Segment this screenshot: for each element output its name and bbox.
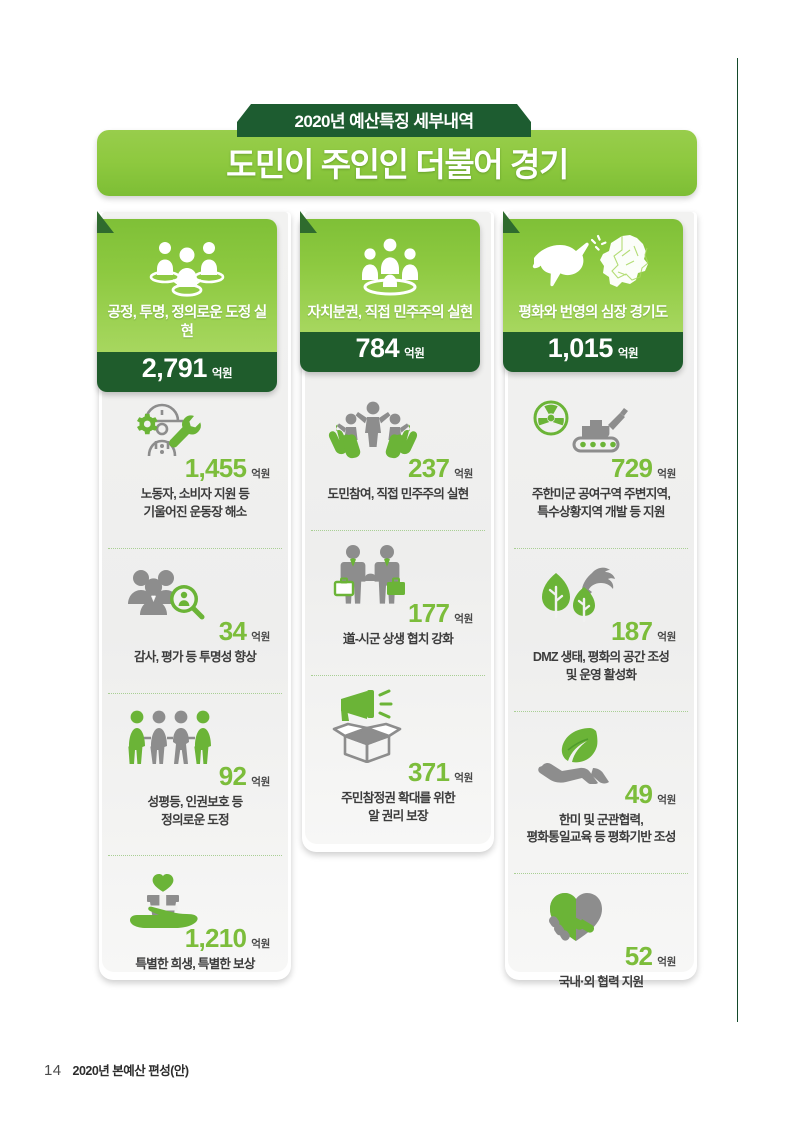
trees-bird-icon bbox=[518, 561, 684, 623]
column-total-value: 784 bbox=[356, 335, 400, 362]
column-total-unit: 억원 bbox=[212, 369, 232, 381]
page-footer: 14 2020년 본예산 편성(안) bbox=[44, 1060, 189, 1079]
megaphone-open-box-icon bbox=[315, 688, 481, 764]
item-description: 노동자, 소비자 지원 등 기울어진 운동장 해소 bbox=[112, 486, 278, 522]
page-number: 14 bbox=[44, 1062, 62, 1079]
column-total: 784 억원 bbox=[300, 332, 480, 372]
column-heading: 공정, 투명, 정의로운 도정 실현 bbox=[103, 304, 271, 343]
column-header-card: 공정, 투명, 정의로운 도정 실현 2,791 억원 bbox=[97, 219, 277, 392]
list-item: 177 억원 道-시군 상생 협치 강화 bbox=[305, 543, 491, 661]
people-magnifier-icon bbox=[112, 561, 278, 623]
list-item: 34 억원 감사, 평가 등 투명성 향상 bbox=[102, 561, 288, 679]
item-amount: 92 억원 bbox=[112, 763, 278, 789]
four-people-holding-hands-icon bbox=[112, 706, 278, 768]
item-amount-unit: 억원 bbox=[657, 469, 676, 480]
header-tab: 2020년 예산특징 세부내역 bbox=[237, 104, 531, 137]
item-description: 주한미군 공여구역 주변지역, 특수상황지역 개발 등 지원 bbox=[518, 486, 684, 522]
item-amount-unit: 억원 bbox=[657, 795, 676, 806]
column-header-top: 평화와 번영의 심장 경기도 bbox=[503, 219, 683, 332]
column-total-value: 2,791 bbox=[142, 355, 207, 382]
item-divider bbox=[514, 873, 688, 874]
list-item: 187 억원 DMZ 생태, 평화의 공간 조성 및 운영 활성화 bbox=[508, 561, 694, 697]
column-heading: 자치분권, 직접 민주주의 실현 bbox=[306, 304, 474, 323]
item-divider bbox=[311, 675, 485, 676]
community-circle-people-icon bbox=[306, 233, 474, 299]
item-divider bbox=[108, 548, 282, 549]
item-amount-unit: 억원 bbox=[454, 469, 473, 480]
item-amount-unit: 억원 bbox=[251, 939, 270, 950]
item-amount: 49 억원 bbox=[518, 781, 684, 807]
item-amount: 729 억원 bbox=[518, 455, 684, 481]
item-amount-unit: 억원 bbox=[657, 957, 676, 968]
infographic-header: 2020년 예산특징 세부내역 도민이 주인인 더불어 경기 bbox=[97, 104, 697, 196]
column-total-unit: 억원 bbox=[404, 349, 424, 361]
item-description: 특별한 희생, 특별한 보상 bbox=[112, 956, 278, 974]
item-amount: 34 억원 bbox=[112, 618, 278, 644]
item-amount-unit: 억원 bbox=[454, 614, 473, 625]
hand-holding-gift-heart-icon bbox=[112, 868, 278, 930]
item-divider bbox=[108, 693, 282, 694]
list-item: 49 억원 한미 및 군관협력, 평화통일교육 등 평화기반 조성 bbox=[508, 724, 694, 860]
item-amount-value: 34 bbox=[219, 618, 247, 644]
item-amount-unit: 억원 bbox=[251, 469, 270, 480]
header-banner: 도민이 주인인 더불어 경기 bbox=[97, 130, 697, 196]
item-amount-unit: 억원 bbox=[454, 773, 473, 784]
list-item: 729 억원 주한미군 공여구역 주변지역, 특수상황지역 개발 등 지원 bbox=[508, 398, 694, 534]
list-item: 1,210 억원 특별한 희생, 특별한 보상 bbox=[102, 868, 288, 986]
item-amount-unit: 억원 bbox=[657, 632, 676, 643]
column-header-card: 평화와 번영의 심장 경기도 1,015 억원 bbox=[503, 219, 683, 372]
item-amount-unit: 억원 bbox=[251, 777, 270, 788]
page-title: 도민이 주인인 더불어 경기 bbox=[226, 138, 568, 188]
column-total: 1,015 억원 bbox=[503, 332, 683, 372]
three-people-podium-icon bbox=[103, 233, 271, 299]
item-amount-value: 237 bbox=[408, 455, 449, 481]
radiation-excavator-icon bbox=[518, 398, 684, 460]
item-amount-value: 187 bbox=[611, 618, 652, 644]
item-amount-value: 729 bbox=[611, 455, 652, 481]
column-heading: 평화와 번영의 심장 경기도 bbox=[509, 304, 677, 323]
column-items: 1,455 억원 노동자, 소비자 지원 등 기울어진 운동장 해소 bbox=[102, 398, 288, 986]
item-description: 도민참여, 직접 민주주의 실현 bbox=[315, 486, 481, 504]
item-description: 국내·외 협력 지원 bbox=[518, 974, 684, 992]
item-description: DMZ 생태, 평화의 공간 조성 및 운영 활성화 bbox=[518, 649, 684, 685]
item-description: 감사, 평가 등 투명성 향상 bbox=[112, 649, 278, 667]
page-side-rule bbox=[737, 58, 738, 1022]
item-divider bbox=[514, 711, 688, 712]
item-amount-unit: 억원 bbox=[251, 632, 270, 643]
item-divider bbox=[311, 530, 485, 531]
column-header-card: 자치분권, 직접 민주주의 실현 784 억원 bbox=[300, 219, 480, 372]
item-description: 성평등, 인권보호 등 정의로운 도정 bbox=[112, 794, 278, 830]
item-amount-value: 371 bbox=[408, 759, 449, 785]
item-description: 道-시군 상생 협치 강화 bbox=[315, 631, 481, 649]
column-header-top: 자치분권, 직접 민주주의 실현 bbox=[300, 219, 480, 332]
dove-gyeonggi-map-icon bbox=[509, 233, 677, 299]
header-tab-label: 2020년 예산특징 세부내역 bbox=[294, 107, 473, 132]
worker-helmet-wrench-gear-icon bbox=[112, 398, 278, 460]
item-amount-value: 1,455 bbox=[185, 455, 247, 481]
column-header-top: 공정, 투명, 정의로운 도정 실현 bbox=[97, 219, 277, 352]
column-total-unit: 억원 bbox=[618, 349, 638, 361]
page-canvas: 2020년 예산특징 세부내역 도민이 주인인 더불어 경기 bbox=[0, 0, 793, 1121]
column-items: 237 억원 도민참여, 직접 민주주의 실현 bbox=[305, 398, 491, 838]
list-item: 92 억원 성평등, 인권보호 등 정의로운 도정 bbox=[102, 706, 288, 842]
list-item: 237 억원 도민참여, 직접 민주주의 실현 bbox=[305, 398, 491, 516]
document-title: 2020년 본예산 편성(안) bbox=[73, 1060, 189, 1079]
list-item: 371 억원 주민참정권 확대를 위한 알 권리 보장 bbox=[305, 688, 491, 838]
handshake-heart-icon bbox=[518, 886, 684, 948]
item-amount-value: 52 bbox=[625, 943, 653, 969]
list-item: 1,455 억원 노동자, 소비자 지원 등 기울어진 운동장 해소 bbox=[102, 398, 288, 534]
item-amount-value: 49 bbox=[625, 781, 653, 807]
item-amount-value: 177 bbox=[408, 600, 449, 626]
item-divider bbox=[108, 855, 282, 856]
two-businessmen-handshake-icon bbox=[315, 543, 481, 605]
item-description: 주민참정권 확대를 위한 알 권리 보장 bbox=[315, 790, 481, 826]
column-total: 2,791 억원 bbox=[97, 352, 277, 392]
hands-holding-people-icon bbox=[315, 398, 481, 460]
item-amount-value: 1,210 bbox=[185, 925, 247, 951]
item-description: 한미 및 군관협력, 평화통일교육 등 평화기반 조성 bbox=[518, 812, 684, 848]
column-total-value: 1,015 bbox=[548, 335, 613, 362]
item-amount-value: 92 bbox=[219, 763, 247, 789]
list-item: 52 억원 국내·외 협력 지원 bbox=[508, 886, 694, 1004]
item-divider bbox=[514, 548, 688, 549]
hand-holding-leaf-icon bbox=[518, 724, 684, 786]
item-amount: 52 억원 bbox=[518, 943, 684, 969]
column-items: 729 억원 주한미군 공여구역 주변지역, 특수상황지역 개발 등 지원 bbox=[508, 398, 694, 1004]
